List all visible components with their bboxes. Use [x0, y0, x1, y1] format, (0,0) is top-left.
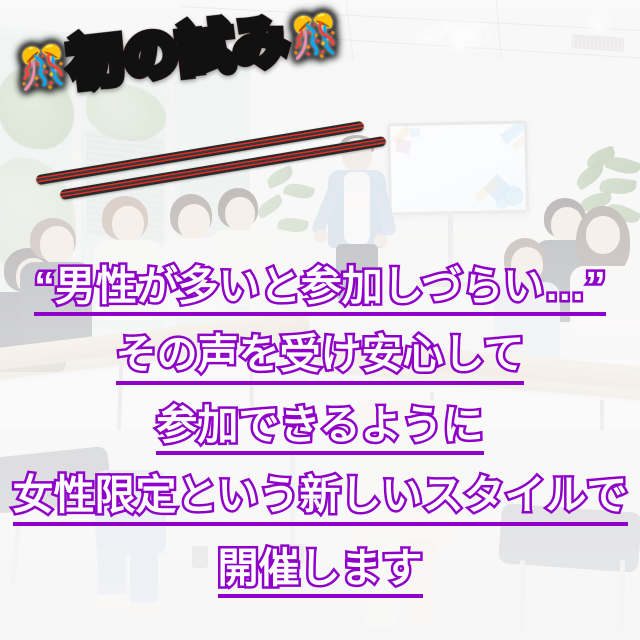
kusudama-icon: 🎊: [288, 14, 342, 59]
message-line-1-text: “男性が多いと参加しづらい…”: [34, 262, 606, 316]
message-line-3-text: 参加できるように: [156, 401, 483, 455]
kusudama-icon: 🎊: [16, 45, 70, 90]
message-line-4-text: 女性限定という新しいスタイルで: [13, 471, 628, 525]
message-line-5-text: 開催します: [218, 544, 423, 598]
message-line-2: その声を受け安心して: [0, 330, 640, 384]
message-line-1: “男性が多いと参加しづらい…”: [0, 262, 640, 316]
message-line-5: 開催します: [0, 544, 640, 598]
promo-poster: 🎊 初の試み 🎊 “男性が多いと参加しづらい…” その声を受け安心して 参加でき…: [0, 0, 640, 640]
message-line-4: 女性限定という新しいスタイルで: [0, 471, 640, 525]
message-block: “男性が多いと参加しづらい…” その声を受け安心して 参加できるように 女性限定…: [0, 262, 640, 608]
message-line-2-text: その声を受け安心して: [116, 330, 525, 384]
message-line-3: 参加できるように: [0, 401, 640, 455]
